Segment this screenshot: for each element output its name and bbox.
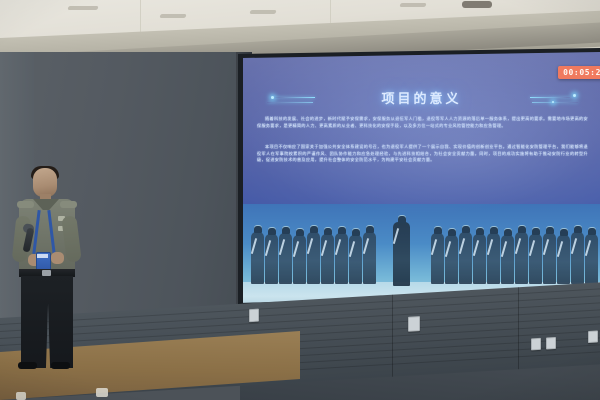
ceiling-light [159,14,186,18]
guard-figure [571,232,584,284]
wall-outlet [249,309,259,323]
guard-leader-figure [393,222,410,286]
guard-figure [307,232,320,284]
shoe-left [18,362,37,369]
guard-figure [459,232,472,284]
guard-figure [585,234,598,284]
guard-figure [349,235,362,284]
guard-figure [473,234,486,284]
guard-figure [335,233,348,284]
guard-figure [515,232,528,284]
belt-buckle [42,270,51,276]
auditorium-scene: 项目的意义 随着科技的发展、社会的进步，新时代赋予安保需求，安保服务从退伍军人门… [0,0,600,400]
wall-outlet [408,316,420,332]
title-decoration-right [516,92,578,108]
slide-paragraph-1-wrap: 随着科技的发展、社会的进步，新时代赋予安保需求，安保服务从退伍军人门槛，退役等军… [257,116,588,129]
guard-figure [279,233,292,284]
ceiling-vent [462,1,492,8]
guard-figure [293,235,306,284]
slide-paragraph-2-wrap: 本项目不仅响应了国家关于加强公共安全体系建设的号召，也为退役军人提供了一个展示自… [257,144,588,164]
hand-right [51,252,64,264]
guard-figure [445,235,458,284]
guard-figure [557,235,570,284]
ceiling-light [67,6,98,10]
projection-screen: 项目的意义 随着科技的发展、社会的进步，新时代赋予安保需求，安保服务从退伍军人门… [243,52,600,308]
wall-outlet [546,337,556,350]
presenter [6,168,90,368]
slide-paragraph: 随着科技的发展、社会的进步，新时代赋予安保需求，安保服务从退伍军人门槛，退役等军… [257,116,588,129]
wall-panel-seam [518,287,519,369]
guard-figure [265,234,278,284]
floor-object [96,388,108,397]
id-badge-strip [37,254,48,258]
guard-figure [321,234,334,284]
guard-figure [431,233,444,284]
shoe-right [51,362,70,369]
wall-outlet [531,338,541,351]
countdown-timer: 00:05:2 [558,66,600,79]
wall-outlet [588,330,598,343]
shoulder-board-right [60,201,77,208]
head [33,168,57,197]
floor-object [16,392,26,400]
wall-panel-seam [392,295,393,377]
guard-figure [501,235,514,284]
guard-figure [529,234,542,284]
guard-figure [363,232,376,284]
guard-figure [487,233,500,284]
trousers [21,276,73,368]
ceiling-light [249,10,276,14]
guard-figure [543,233,556,284]
ceiling-light [399,3,426,7]
slide-paragraph: 本项目不仅响应了国家关于加强公共安全体系建设的号召，也为退役军人提供了一个展示自… [257,144,588,164]
shoulder-board-left [17,201,34,208]
guard-figure [251,232,264,284]
